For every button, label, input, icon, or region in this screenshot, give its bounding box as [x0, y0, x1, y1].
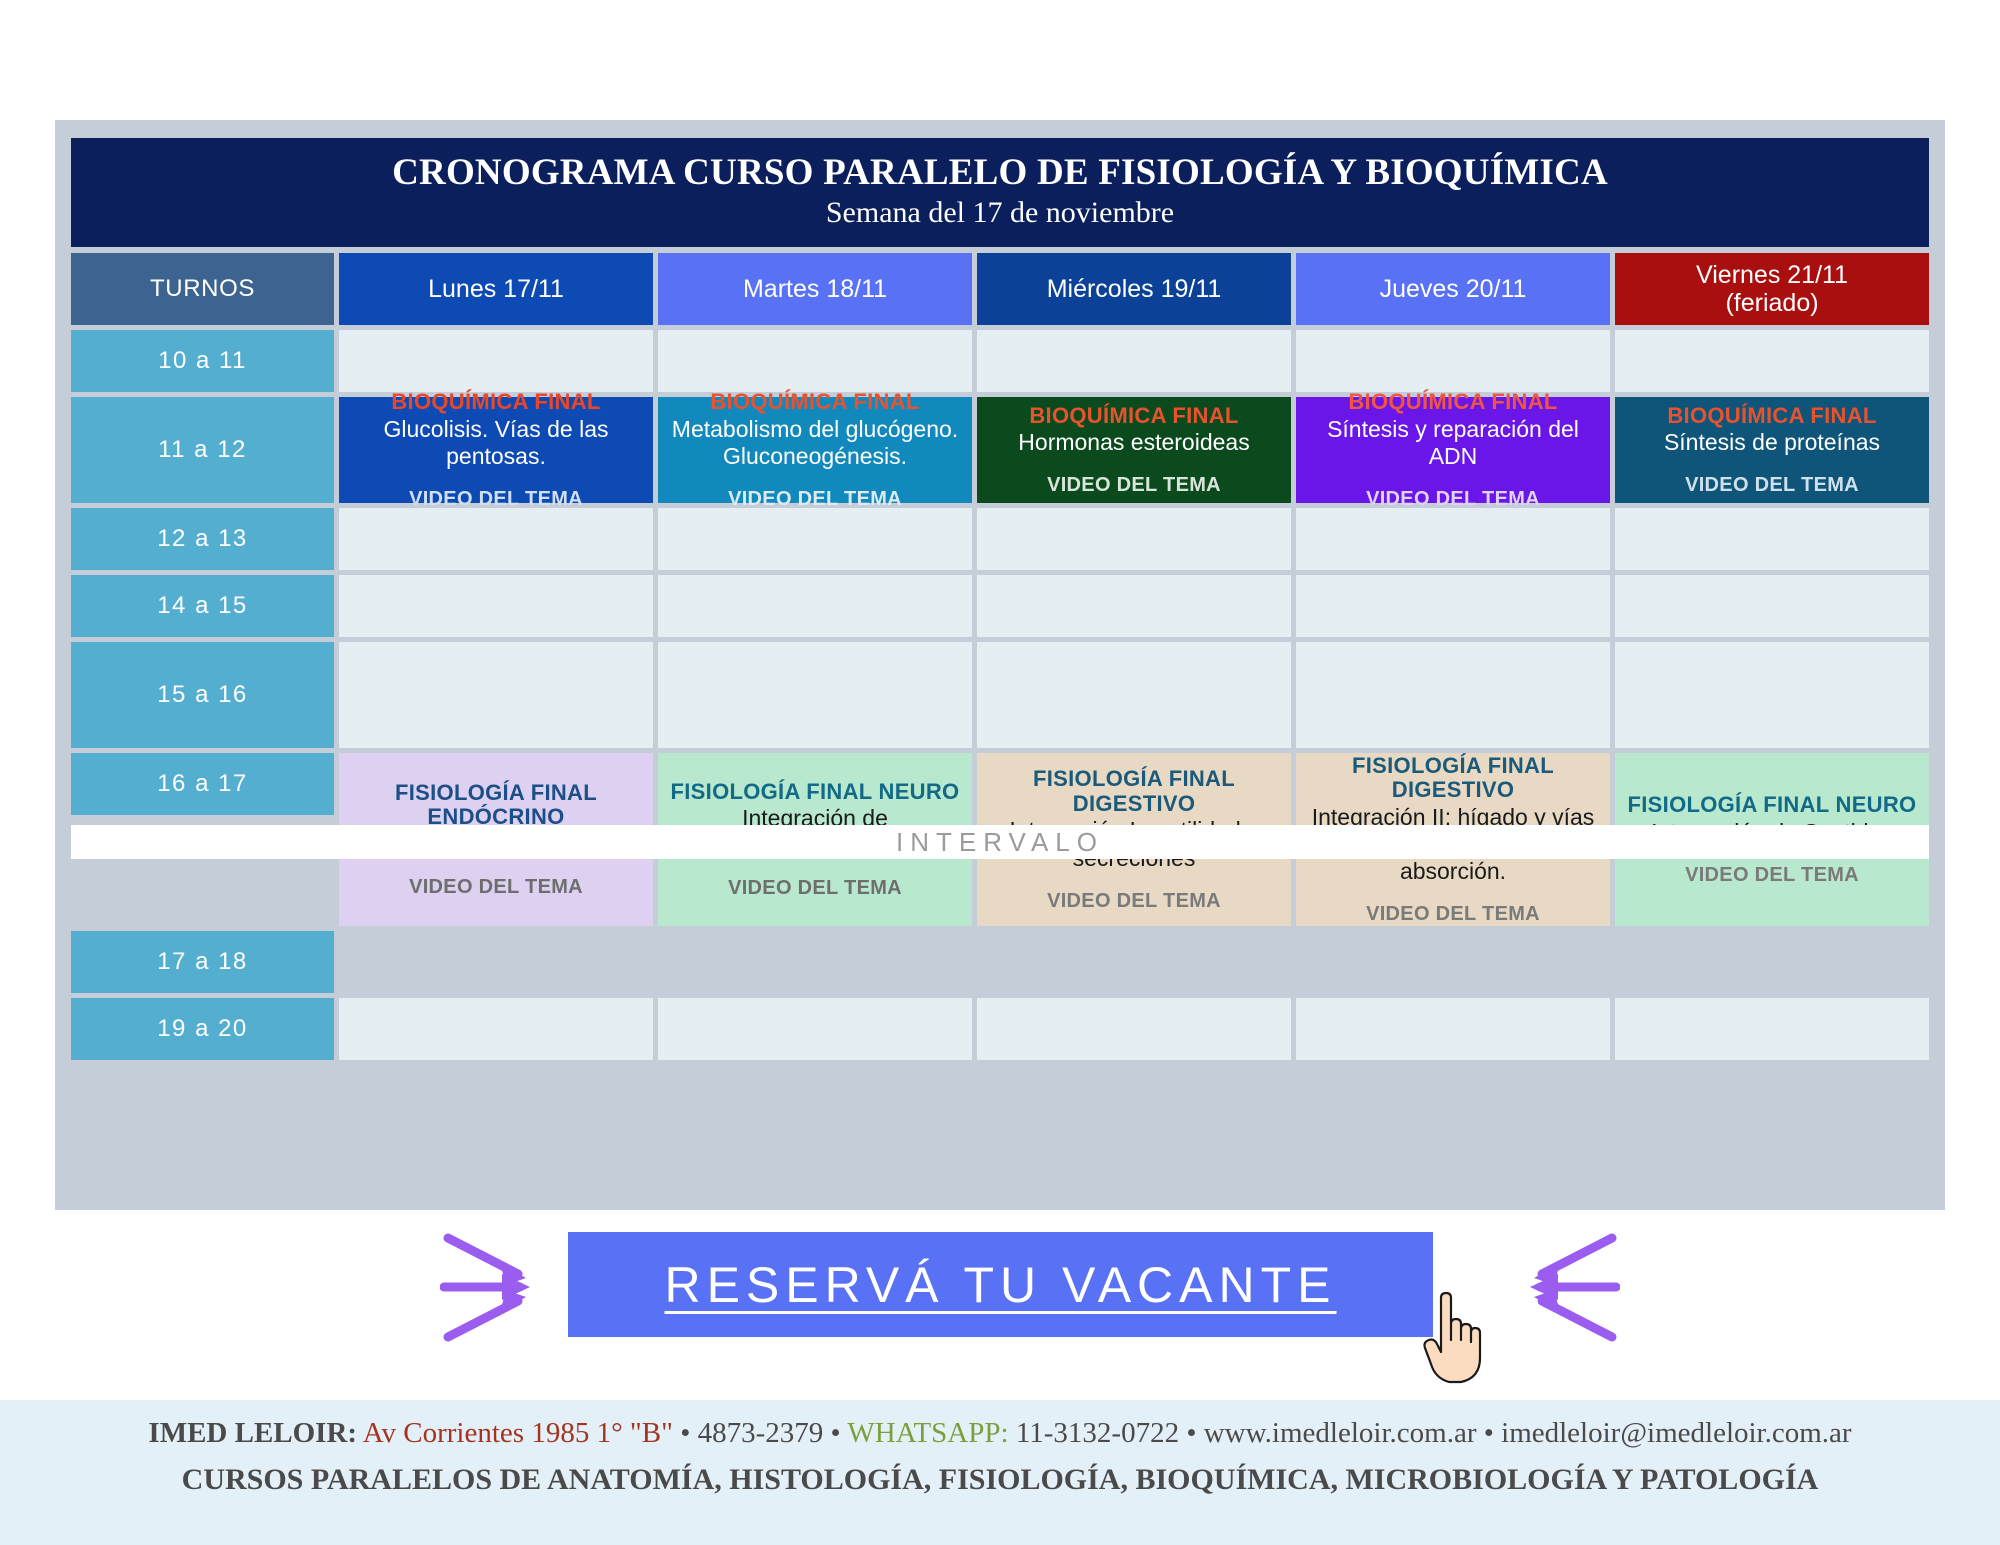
schedule-frame: CRONOGRAMA CURSO PARALELO DE FISIOLOGÍA …	[55, 120, 1945, 1210]
empty-cell	[339, 508, 653, 570]
empty-cell	[1615, 575, 1929, 637]
class-block-bioquimica-lunes[interactable]: BIOQUÍMICA FINAL Glucolisis. Vías de las…	[339, 397, 653, 503]
footer-email[interactable]: imedleloir@imedleloir.com.ar	[1501, 1417, 1851, 1449]
empty-cell	[339, 575, 653, 637]
empty-cell	[339, 642, 653, 748]
subject-topic: Hormonas esteroideas	[1018, 429, 1249, 456]
empty-cell	[977, 330, 1291, 392]
footer-bullet-3: •	[1186, 1417, 1196, 1449]
empty-cell	[977, 998, 1291, 1060]
empty-cell	[339, 998, 653, 1060]
schedule-grid: TURNOS Lunes 17/11 Martes 18/11 Miércole…	[71, 253, 1929, 1060]
title-banner: CRONOGRAMA CURSO PARALELO DE FISIOLOGÍA …	[71, 138, 1929, 247]
footer-website[interactable]: www.imedleloir.com.ar	[1204, 1417, 1477, 1449]
subject-name: BIOQUÍMICA FINAL	[391, 390, 600, 415]
empty-cell	[658, 642, 972, 748]
empty-cell	[1615, 508, 1929, 570]
subject-topic: Glucolisis. Vías de las pentosas.	[349, 416, 643, 470]
empty-cell	[977, 642, 1291, 748]
video-link[interactable]: VIDEO DEL TEMA	[1047, 890, 1221, 913]
column-header-miercoles: Miércoles 19/11	[977, 253, 1291, 325]
pointing-hand-cursor-icon	[1415, 1290, 1490, 1385]
class-block-bioquimica-martes[interactable]: BIOQUÍMICA FINAL Metabolismo del glucóge…	[658, 397, 972, 503]
empty-cell	[1296, 642, 1610, 748]
empty-cell	[977, 575, 1291, 637]
video-link[interactable]: VIDEO DEL TEMA	[409, 876, 583, 899]
empty-cell	[977, 508, 1291, 570]
time-slot-14-15: 14 a 15	[71, 575, 334, 637]
subject-name: BIOQUÍMICA FINAL	[1029, 404, 1238, 429]
empty-cell	[1296, 508, 1610, 570]
footer: IMED LELOIR: Av Corrientes 1985 1° "B" •…	[0, 1400, 2000, 1545]
interval-band	[71, 825, 1929, 859]
footer-whatsapp-number: 11-3132-0722	[1016, 1417, 1179, 1449]
subject-name: BIOQUÍMICA FINAL	[1348, 390, 1557, 415]
subject-name: FISIOLOGÍA FINAL ENDÓCRINO	[349, 781, 643, 830]
video-link[interactable]: VIDEO DEL TEMA	[728, 488, 902, 511]
subject-topic: Síntesis de proteínas	[1664, 429, 1880, 456]
viernes-feriado: (feriado)	[1696, 289, 1848, 317]
cta-zone: RESERVÁ TU VACANTE	[0, 1222, 2000, 1397]
subject-topic: Metabolismo del glucógeno. Gluconeogénes…	[668, 416, 962, 470]
footer-bullet-1: •	[680, 1417, 690, 1449]
reserve-vacancy-button[interactable]: RESERVÁ TU VACANTE	[568, 1232, 1433, 1337]
subject-name: FISIOLOGÍA FINAL NEURO	[671, 780, 960, 805]
column-header-turnos: TURNOS	[71, 253, 334, 325]
empty-cell	[658, 998, 972, 1060]
time-slot-19-20: 19 a 20	[71, 998, 334, 1060]
footer-whatsapp-label: WHATSAPP:	[847, 1417, 1008, 1449]
footer-courses-line: CURSOS PARALELOS DE ANATOMÍA, HISTOLOGÍA…	[0, 1463, 2000, 1497]
time-slot-12-13: 12 a 13	[71, 508, 334, 570]
empty-cell	[658, 330, 972, 392]
page-title: CRONOGRAMA CURSO PARALELO DE FISIOLOGÍA …	[71, 152, 1929, 193]
video-link[interactable]: VIDEO DEL TEMA	[1047, 474, 1221, 497]
footer-bullet-4: •	[1484, 1417, 1494, 1449]
video-link[interactable]: VIDEO DEL TEMA	[1366, 903, 1540, 926]
footer-bullet-2: •	[831, 1417, 841, 1449]
empty-cell	[1296, 998, 1610, 1060]
empty-cell	[1615, 998, 1929, 1060]
arrow-right-group-icon	[1490, 1230, 1620, 1345]
footer-brand: IMED LELOIR:	[148, 1417, 357, 1449]
time-slot-11-12: 11 a 12	[71, 397, 334, 503]
video-link[interactable]: VIDEO DEL TEMA	[1685, 474, 1859, 497]
schedule-poster: CRONOGRAMA CURSO PARALELO DE FISIOLOGÍA …	[0, 0, 2000, 1545]
empty-cell	[1615, 642, 1929, 748]
column-header-viernes: Viernes 21/11 (feriado)	[1615, 253, 1929, 325]
empty-cell	[1296, 575, 1610, 637]
time-slot-15-16: 15 a 16	[71, 642, 334, 748]
footer-address: Av Corrientes 1985 1° "B"	[363, 1417, 673, 1449]
footer-contact-line: IMED LELOIR: Av Corrientes 1985 1° "B" •…	[0, 1400, 2000, 1451]
arrow-left-group-icon	[440, 1230, 570, 1345]
video-link[interactable]: VIDEO DEL TEMA	[1685, 864, 1859, 887]
viernes-date: Viernes 21/11	[1696, 261, 1848, 289]
subject-name: BIOQUÍMICA FINAL	[1667, 404, 1876, 429]
page-subtitle: Semana del 17 de noviembre	[71, 195, 1929, 231]
subject-name: FISIOLOGÍA FINAL DIGESTIVO	[987, 767, 1281, 816]
column-header-jueves: Jueves 20/11	[1296, 253, 1610, 325]
column-header-lunes: Lunes 17/11	[339, 253, 653, 325]
empty-cell	[658, 508, 972, 570]
cta-label: RESERVÁ TU VACANTE	[664, 1256, 1336, 1314]
time-slot-16-17: 16 a 17	[71, 753, 334, 815]
video-link[interactable]: VIDEO DEL TEMA	[728, 877, 902, 900]
column-header-martes: Martes 18/11	[658, 253, 972, 325]
subject-topic: Síntesis y reparación del ADN	[1306, 416, 1600, 470]
class-block-bioquimica-jueves[interactable]: BIOQUÍMICA FINAL Síntesis y reparación d…	[1296, 397, 1610, 503]
subject-name: BIOQUÍMICA FINAL	[710, 390, 919, 415]
video-link[interactable]: VIDEO DEL TEMA	[409, 488, 583, 511]
footer-phone: 4873-2379	[698, 1417, 824, 1449]
time-slot-17-18: 17 a 18	[71, 931, 334, 993]
empty-cell	[339, 330, 653, 392]
subject-name: FISIOLOGÍA FINAL NEURO	[1628, 793, 1917, 818]
empty-cell	[1615, 330, 1929, 392]
class-block-bioquimica-miercoles[interactable]: BIOQUÍMICA FINAL Hormonas esteroideas VI…	[977, 397, 1291, 503]
subject-name: FISIOLOGÍA FINAL DIGESTIVO	[1306, 754, 1600, 803]
time-slot-10-11: 10 a 11	[71, 330, 334, 392]
video-link[interactable]: VIDEO DEL TEMA	[1366, 488, 1540, 511]
empty-cell	[658, 575, 972, 637]
class-block-bioquimica-viernes[interactable]: BIOQUÍMICA FINAL Síntesis de proteínas V…	[1615, 397, 1929, 503]
empty-cell	[1296, 330, 1610, 392]
